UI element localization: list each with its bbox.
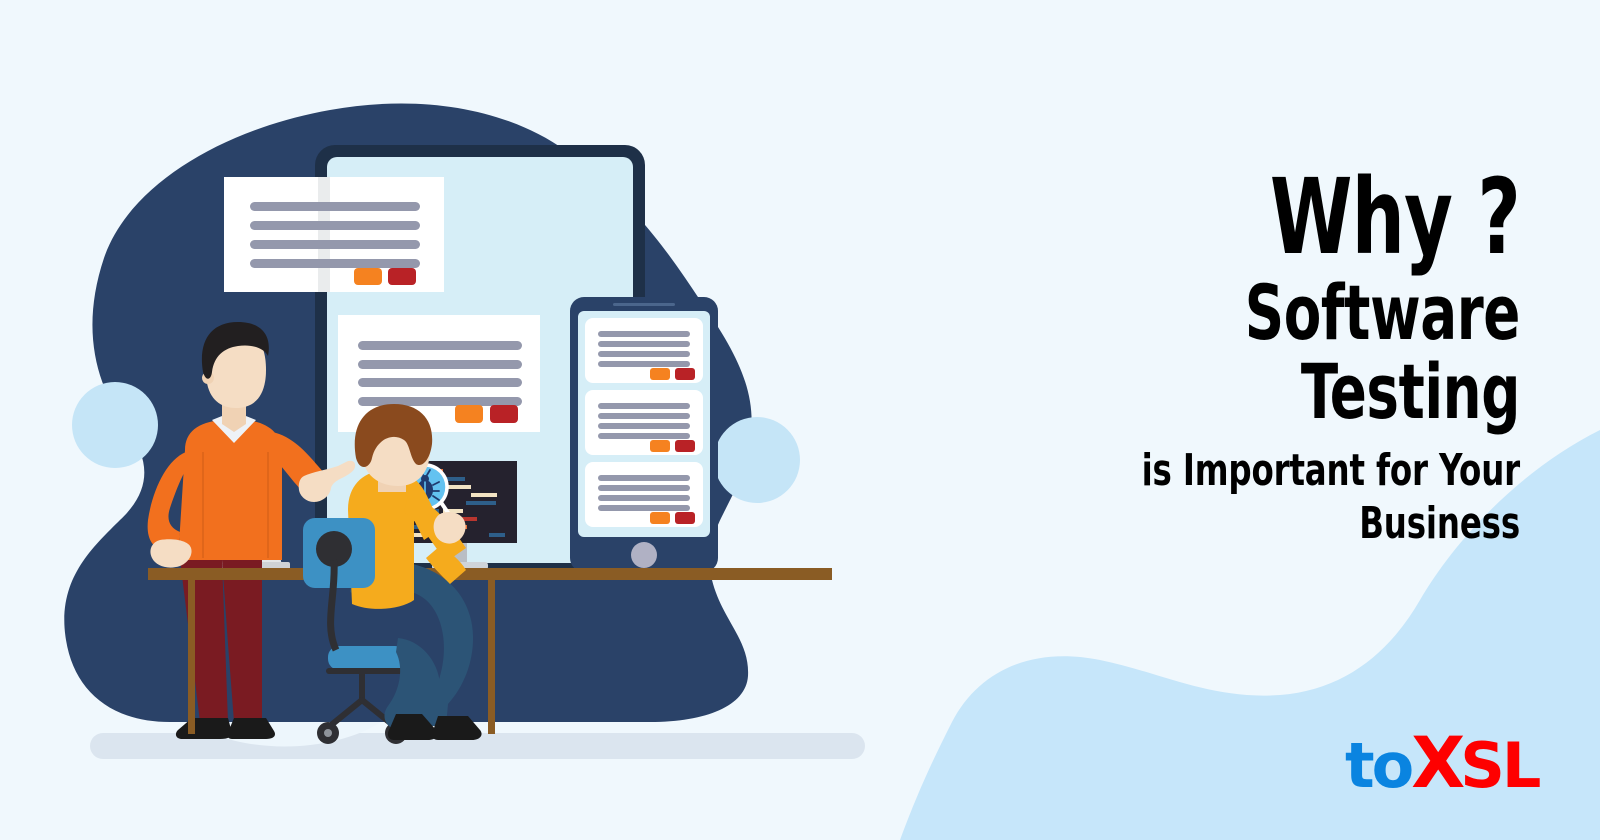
banner-root: Why ? Software Testing is Important for … <box>0 0 1600 840</box>
chair-wheel-left-hub <box>324 729 332 737</box>
logo-text-to: to <box>1345 729 1411 802</box>
headline-line-2: Software Testing <box>1008 273 1520 431</box>
toxsl-logo[interactable]: toXSL <box>1345 728 1538 798</box>
logo-text-x: X <box>1411 722 1460 804</box>
chair-back-arm <box>331 560 336 650</box>
logo-text-sl: SL <box>1460 729 1538 802</box>
hand-right <box>434 512 466 544</box>
chair-seat <box>328 646 406 670</box>
headline-line-3: is Important for Your Business <box>995 445 1520 551</box>
chair-seat-plate <box>326 668 408 674</box>
shoe-front <box>432 716 482 740</box>
headline-block: Why ? Software Testing is Important for … <box>880 168 1520 550</box>
headline-line-1: Why ? <box>1008 168 1520 267</box>
